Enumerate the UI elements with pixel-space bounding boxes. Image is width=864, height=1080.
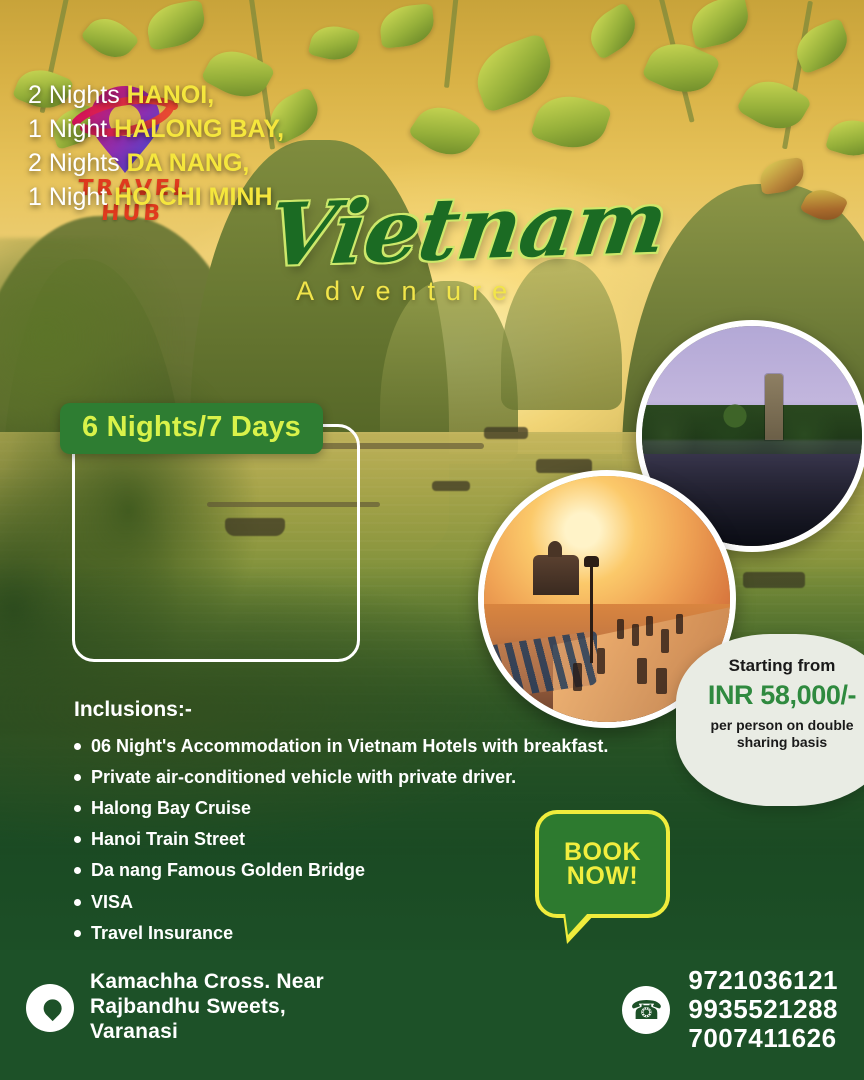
duration-badge: 6 Nights/7 Days xyxy=(60,403,323,454)
price-amount: INR 58,000/- xyxy=(692,680,864,711)
travel-poster: TRAVEL HUB Vietnam Adventure 6 Nights/7 … xyxy=(0,0,864,1080)
itinerary-city: DA NANG, xyxy=(127,149,250,177)
location-pin-icon xyxy=(26,984,74,1032)
list-item: 2 Nights HANOI, xyxy=(28,78,358,112)
price-note: per person on double sharing basis xyxy=(692,717,864,751)
bullet-icon xyxy=(74,743,81,750)
boat xyxy=(432,481,470,491)
itinerary-list: 2 Nights HANOI, 1 Night HALONG BAY, 2 Ni… xyxy=(28,78,358,214)
bullet-icon xyxy=(74,805,81,812)
address-line: Kamachha Cross. Near xyxy=(90,970,324,995)
boat xyxy=(484,427,528,439)
phone-numbers[interactable]: 9721036121 9935521288 7007411626 xyxy=(688,966,838,1053)
price-prefix: Starting from xyxy=(692,656,864,676)
itinerary-nights: 2 Nights xyxy=(28,81,120,109)
bullet-icon xyxy=(74,899,81,906)
inclusion-text: Halong Bay Cruise xyxy=(91,796,251,820)
book-now-label: BOOK NOW! xyxy=(564,840,641,889)
boat xyxy=(536,459,592,473)
itinerary-nights: 1 Night xyxy=(28,115,107,143)
book-now-line2: NOW! xyxy=(564,864,641,889)
itinerary-city: HANOI, xyxy=(127,81,215,109)
bullet-icon xyxy=(74,930,81,937)
list-item: Travel Insurance xyxy=(74,921,634,945)
list-item: Private air-conditioned vehicle with pri… xyxy=(74,765,634,789)
address-line: Varanasi xyxy=(90,1020,324,1045)
footer-bar: Kamachha Cross. Near Rajbandhu Sweets, V… xyxy=(0,950,864,1080)
itinerary-nights: 1 Night xyxy=(28,183,107,211)
address-line: Rajbandhu Sweets, xyxy=(90,995,324,1020)
bullet-icon xyxy=(74,836,81,843)
inclusion-text: 06 Night's Accommodation in Vietnam Hote… xyxy=(91,734,608,758)
phone-block[interactable]: ☎ 9721036121 9935521288 7007411626 xyxy=(622,966,838,1053)
book-now-line1: BOOK xyxy=(564,840,641,865)
bullet-icon xyxy=(74,867,81,874)
list-item: 06 Night's Accommodation in Vietnam Hote… xyxy=(74,734,634,758)
book-now-button[interactable]: BOOK NOW! xyxy=(535,810,670,918)
inclusion-text: Private air-conditioned vehicle with pri… xyxy=(91,765,516,789)
itinerary-box xyxy=(72,424,360,662)
price-badge: Starting from INR 58,000/- per person on… xyxy=(676,634,864,806)
phone-number[interactable]: 9721036121 xyxy=(688,966,838,995)
inclusion-text: Travel Insurance xyxy=(91,921,233,945)
itinerary-nights: 2 Nights xyxy=(28,149,120,177)
itinerary-city: HO CHI MINH xyxy=(114,183,272,211)
phone-number[interactable]: 9935521288 xyxy=(688,995,838,1024)
address-block: Kamachha Cross. Near Rajbandhu Sweets, V… xyxy=(26,970,324,1044)
bullet-icon xyxy=(74,774,81,781)
inclusion-text: Hanoi Train Street xyxy=(91,827,245,851)
list-item: 1 Night HALONG BAY, xyxy=(28,112,358,146)
phone-icon: ☎ xyxy=(622,986,670,1034)
inclusion-text: Da nang Famous Golden Bridge xyxy=(91,858,365,882)
address-text: Kamachha Cross. Near Rajbandhu Sweets, V… xyxy=(90,970,324,1044)
inclusions-title: Inclusions:- xyxy=(74,698,634,722)
itinerary-city: HALONG BAY, xyxy=(114,115,284,143)
list-item: 2 Nights DA NANG, xyxy=(28,146,358,180)
inclusion-text: VISA xyxy=(91,890,133,914)
phone-number[interactable]: 7007411626 xyxy=(688,1024,838,1053)
list-item: 1 Night HO CHI MINH xyxy=(28,180,358,214)
